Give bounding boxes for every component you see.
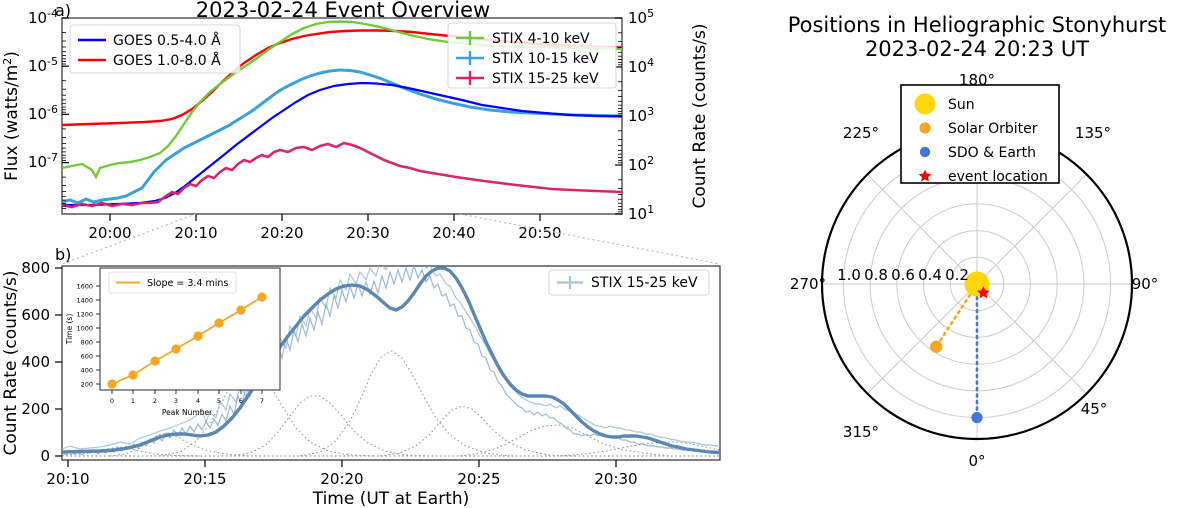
solar-orbiter-marker	[930, 341, 942, 353]
ytick-a-1-exp: -7	[47, 151, 58, 164]
polar-plot: Positions in Heliographic Stonyhurst 202…	[745, 0, 1200, 508]
polar-svg: Positions in Heliographic Stonyhurst 202…	[745, 0, 1200, 508]
legend-label-event-location: event location	[948, 169, 1048, 185]
inset-xtick-5: 5	[217, 397, 221, 405]
ytick-b-0: 0	[40, 447, 50, 465]
radial-label-1p0: 1.0	[837, 266, 861, 284]
legend-label-sdo-earth: SDO & Earth	[948, 145, 1036, 161]
legend-label-b-stix-15-25: STIX 15-25 keV	[591, 275, 698, 291]
ytick-a-4-exp: -4	[47, 7, 58, 20]
legend-label-stix-15-25: STIX 15-25 keV	[492, 71, 599, 87]
svg-text:103: 103	[628, 105, 654, 126]
inset-xtick-6: 6	[239, 397, 243, 405]
panel-b-xlabel: Time (UT at Earth)	[312, 489, 470, 508]
inset-ytick-2: 600	[81, 353, 93, 361]
inset-point-3	[171, 344, 180, 353]
xtick-b-1: 20:15	[183, 470, 226, 488]
inset-xtick-1: 1	[131, 397, 135, 405]
svg-text:105: 105	[628, 7, 654, 28]
svg-text:102: 102	[628, 154, 654, 175]
inset-xtick-2: 2	[153, 397, 157, 405]
panel-a-legend-goes: GOES 0.5-4.0 Å GOES 1.0-8.0 Å	[70, 25, 240, 73]
angular-label-90: 90°	[1132, 275, 1159, 293]
ytick-a-2-exp: -6	[47, 103, 58, 116]
legend-label-goes-0p5-4: GOES 0.5-4.0 Å	[113, 32, 221, 49]
ytick2-a-3-exp: 3	[647, 105, 654, 118]
inset-xtick-3: 3	[174, 397, 178, 405]
panel-b-legend: STIX 15-25 keV	[549, 270, 709, 295]
ytick2-a-4-exp: 4	[647, 56, 654, 69]
radial-label-0p6: 0.6	[891, 266, 915, 284]
panel-a-yaxis-left: 10-4 10-5 10-6 10-7 Flux (watts/m2)	[1, 7, 70, 209]
legend-label-stix-10-15: STIX 10-15 keV	[492, 51, 599, 67]
angular-label-315: 315°	[843, 423, 879, 441]
angular-label-0: 0°	[968, 452, 985, 470]
inset-point-5	[214, 318, 223, 327]
ytick2-a-5-exp: 5	[647, 7, 654, 20]
ytick-a-3-exp: -5	[47, 55, 58, 68]
svg-text:104: 104	[628, 56, 654, 77]
inset-xtick-4: 4	[196, 397, 200, 405]
polar-legend: Sun Solar Orbiter SDO & Earth event loca…	[901, 85, 1059, 185]
inset-xlabel: Peak Number	[162, 408, 213, 417]
angular-label-45: 45°	[1081, 400, 1108, 418]
angular-label-270: 270°	[790, 275, 826, 293]
inset-point-0	[107, 379, 116, 388]
xtick-b-2: 20:20	[320, 470, 363, 488]
inset-point-4	[193, 331, 202, 340]
panel-b-svg: b) 0 200	[0, 246, 745, 508]
legend-swatch-sdo-earth	[920, 147, 930, 157]
ytick-a-4: 10	[28, 9, 47, 27]
inset-ytick-7: 1600	[76, 283, 93, 291]
panel-b-ylabel: Count Rate (counts/s)	[1, 271, 21, 456]
svg-text:10-7: 10-7	[28, 151, 58, 172]
svg-text:10-5: 10-5	[28, 55, 58, 76]
radial-label-0p2: 0.2	[945, 266, 969, 284]
inset-ytick-6: 1400	[76, 297, 93, 305]
xtick-b-0: 20:10	[46, 470, 89, 488]
xtick-b-4: 20:30	[594, 470, 637, 488]
legend-swatch-solar-orbiter	[919, 122, 930, 133]
panel-b-label: b)	[55, 246, 71, 264]
panel-a-y2label: Count Rate (counts/s)	[690, 24, 710, 209]
radial-label-0p8: 0.8	[864, 266, 888, 284]
inset-legend: Slope = 3.4 mins	[109, 272, 236, 293]
panel-a-ylabel: Flux (watts/m2)	[1, 51, 23, 181]
inset-ytick-3: 800	[81, 339, 93, 347]
xtick-b-3: 20:25	[457, 470, 500, 488]
inset-ytick-0: 200	[81, 381, 93, 389]
inset-xtick-7: 7	[260, 397, 264, 405]
angular-label-225: 225°	[843, 124, 879, 142]
panel-b: b) 0 200	[0, 246, 745, 508]
radial-label-0p4: 0.4	[918, 266, 942, 284]
inset-point-7	[257, 292, 266, 301]
inset-ytick-1: 400	[81, 367, 93, 375]
inset-legend-label: Slope = 3.4 mins	[147, 278, 228, 289]
inset-ytick-4: 1000	[76, 325, 93, 333]
sdo-earth-marker	[971, 412, 982, 423]
legend-swatch-sun	[915, 94, 936, 115]
ytick-b-2: 400	[21, 353, 50, 371]
panel-a-yaxis-right: 105 104 103 102 101 Count Rate (counts/s…	[615, 7, 710, 224]
inset-ylabel: Time (s)	[65, 314, 74, 346]
panel-b-xaxis: 20:10 20:15 20:20 20:25 20:30 Time (UT a…	[46, 460, 637, 508]
legend-label-solar-orbiter: Solar Orbiter	[948, 121, 1038, 137]
legend-label-stix-4-10: STIX 4-10 keV	[492, 31, 590, 47]
legend-label-sun: Sun	[948, 97, 975, 113]
svg-text:10-6: 10-6	[28, 103, 58, 124]
panel-a-svg: a) 2023-02-24 Event Overview	[0, 0, 745, 250]
svg-text:10-4: 10-4	[28, 7, 58, 28]
polar-title-line2: 2023-02-24 20:23 UT	[865, 37, 1089, 61]
angular-label-135: 135°	[1075, 124, 1111, 142]
panel-a-legend-stix: STIX 4-10 keV STIX 10-15 keV STIX 15-25 …	[448, 23, 616, 88]
inset-ytick-5: 1200	[76, 311, 93, 319]
ytick-b-3: 600	[21, 306, 50, 324]
polar-title-line1: Positions in Heliographic Stonyhurst	[788, 13, 1167, 37]
inset-xtick-0: 0	[110, 397, 114, 405]
ytick-b-4: 800	[21, 259, 50, 277]
ytick2-a-2-exp: 2	[647, 154, 654, 167]
inset-point-6	[236, 305, 245, 314]
ytick-b-1: 200	[21, 400, 50, 418]
panel-b-yaxis: 0 200 400 600 800 Count Rate (counts/s)	[1, 259, 62, 465]
inset-point-2	[150, 356, 159, 365]
inset-point-1	[128, 370, 137, 379]
panel-a: a) 2023-02-24 Event Overview	[0, 0, 745, 250]
legend-label-goes-1-8: GOES 1.0-8.0 Å	[113, 52, 221, 69]
